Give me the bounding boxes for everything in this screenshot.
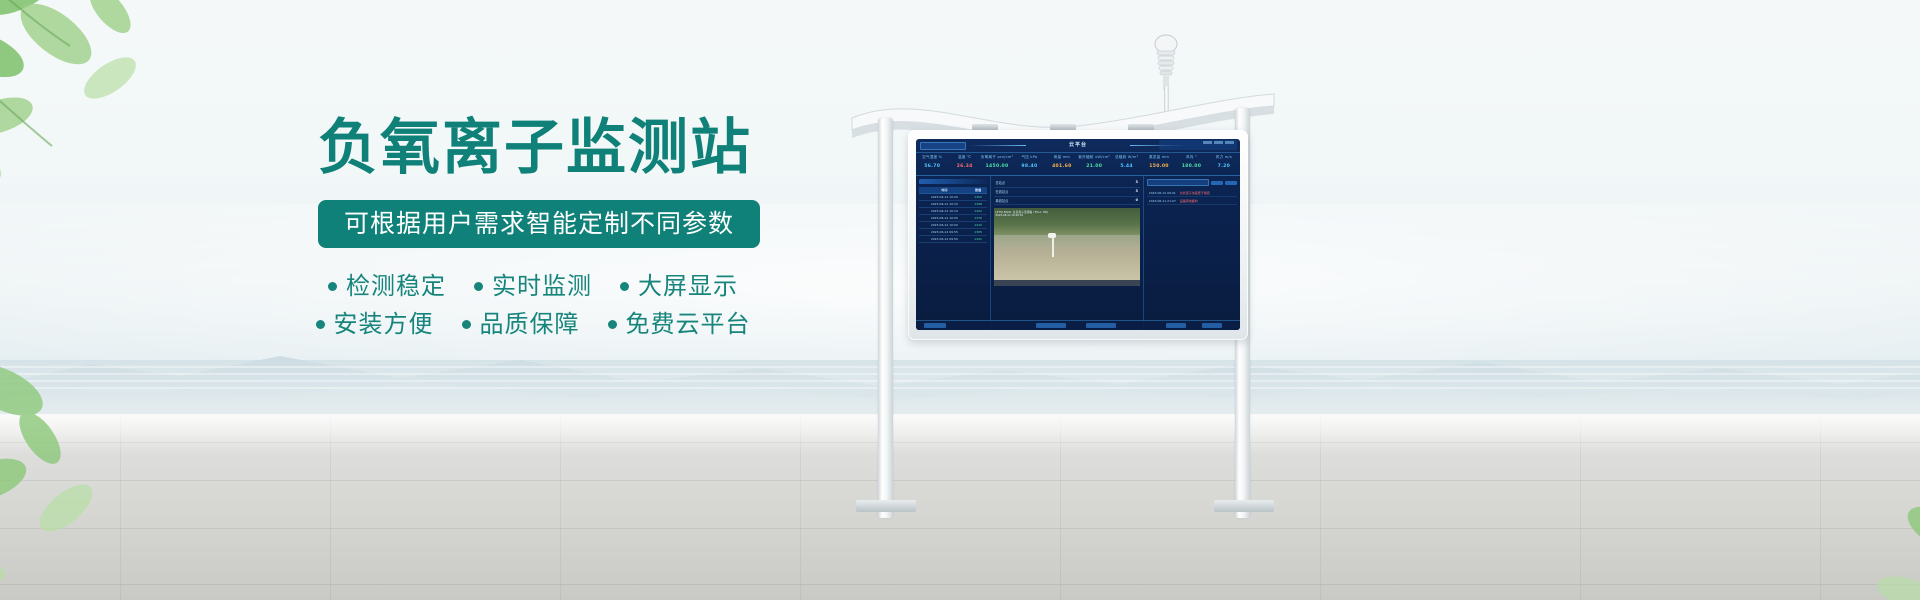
feature-label: 品质保障	[480, 312, 580, 336]
table-row: 2023-06-12 09:551365	[919, 229, 987, 236]
metric-card: 雨量 mm 401.60	[1046, 153, 1078, 175]
footer-chip[interactable]	[1202, 323, 1222, 328]
alarm-time: 2023-06-12 09:41	[1149, 191, 1176, 195]
table-row: 2023-06-12 09:501441	[919, 236, 987, 243]
realtime-data-table: 时间 数值 2023-06-12 10:201450 2023-06-12 10…	[919, 187, 987, 243]
alarm-text: 设备离线超时	[1180, 199, 1198, 203]
feature-label: 安装方便	[334, 312, 434, 336]
feature-label: 大屏显示	[638, 274, 738, 298]
footer-chip[interactable]	[1036, 323, 1066, 328]
metric-value: 7.20	[1208, 164, 1240, 169]
cell-value: 1422	[970, 208, 987, 215]
kiosk-post-left	[878, 118, 893, 518]
bullet-dot-icon	[462, 320, 471, 329]
metric-value: 26.34	[948, 164, 980, 169]
stat-row: 离线站点 0	[994, 197, 1140, 206]
video-panel: 总站点 3 在线站点 3 离线站点 0	[991, 176, 1143, 330]
header-chip[interactable]	[1214, 141, 1223, 144]
stat-value: 0	[1136, 198, 1138, 203]
metric-value: 21.00	[1078, 164, 1110, 169]
table-row: 2023-06-12 10:001410	[919, 222, 987, 229]
feature-item: 免费云平台	[608, 312, 751, 336]
metric-label: 空气湿度 %	[916, 155, 948, 160]
feature-row: 检测稳定 实时监测 大屏显示	[318, 274, 748, 298]
alarm-filter-select[interactable]	[1147, 179, 1209, 186]
metric-label: 风力 m/s	[1208, 155, 1240, 160]
metric-value: 98.40	[1013, 164, 1045, 169]
feature-label: 检测稳定	[346, 274, 446, 298]
live-video-feed[interactable]: JZTM-NQ01 负氧离子监测站 (FULL HD) 2023-06-12 1…	[994, 208, 1140, 286]
alarm-panel: 2023-06-12 09:41 负氧离子浓度低于阈值 2023-06-11 2…	[1143, 176, 1240, 330]
display-screen: 云平台 空气湿度 % 56.70	[916, 139, 1240, 330]
page-title: 负氧离子监测站	[318, 118, 748, 178]
bullet-dot-icon	[328, 282, 337, 291]
feature-row: 安装方便 品质保障 免费云平台	[318, 312, 748, 336]
metric-value: 5.44	[1110, 164, 1142, 169]
query-button[interactable]	[1211, 181, 1223, 185]
metric-value: 150.00	[1143, 164, 1175, 169]
dashboard: 云平台 空气湿度 % 56.70	[916, 139, 1240, 330]
table-row: 2023-06-12 10:051376	[919, 215, 987, 222]
bullet-dot-icon	[474, 282, 483, 291]
table-row: 2023-06-12 10:201450	[919, 194, 987, 201]
feature-item: 安装方便	[316, 312, 434, 336]
metric-label: 总辐射 W/m²	[1110, 155, 1142, 160]
header-chip[interactable]	[1225, 141, 1234, 144]
alarm-time: 2023-06-11 21:07	[1149, 199, 1176, 203]
footer-chip[interactable]	[924, 323, 946, 328]
dashboard-body: 时间 数值 2023-06-12 10:201450 2023-06-12 10…	[916, 176, 1240, 330]
hero-banner: 负氧离子监测站 可根据用户需求智能定制不同参数 检测稳定 实时监测 大屏显示	[0, 0, 1920, 600]
metric-card: 风力 m/s 7.20	[1208, 153, 1240, 175]
metric-card: 紫外辐射 uW/cm² 21.00	[1078, 153, 1110, 175]
metric-card: 温度 ℃ 26.34	[948, 153, 980, 175]
cell-time: 2023-06-12 10:00	[919, 222, 970, 229]
cell-value: 1450	[970, 194, 987, 201]
metric-label: 雨量 mm	[1046, 155, 1078, 160]
metric-label: 蒸发量 mm	[1143, 155, 1175, 160]
stat-label: 总站点	[996, 180, 1006, 185]
metric-value: 56.70	[916, 164, 948, 169]
cell-value: 1441	[970, 236, 987, 243]
alarm-text: 负氧离子浓度低于阈值	[1180, 191, 1210, 195]
metric-strip: 空气湿度 % 56.70 温度 ℃ 26.34 负氧离子 pcs/cm³ 145…	[916, 153, 1240, 176]
metric-card: 风向 ° 180.00	[1175, 153, 1207, 175]
footer-chip[interactable]	[1166, 323, 1186, 328]
feature-label: 实时监测	[492, 274, 592, 298]
bullet-dot-icon	[620, 282, 629, 291]
metric-label: 温度 ℃	[948, 155, 980, 160]
metric-value: 1450.00	[981, 164, 1013, 169]
video-sensor-pole	[1052, 236, 1054, 256]
subtitle-badge: 可根据用户需求智能定制不同参数	[318, 200, 760, 248]
cell-time: 2023-06-12 09:55	[919, 229, 970, 236]
metric-label: 紫外辐射 uW/cm²	[1078, 155, 1110, 160]
export-button[interactable]	[1225, 181, 1237, 185]
metric-value: 180.00	[1175, 164, 1207, 169]
bullet-dot-icon	[316, 320, 325, 329]
panel-header-bar	[919, 179, 987, 184]
metric-label: 负氧离子 pcs/cm³	[981, 155, 1013, 160]
cell-time: 2023-06-12 10:20	[919, 194, 970, 201]
display-screen-frame: 云平台 空气湿度 % 56.70	[908, 130, 1248, 340]
cell-time: 2023-06-12 10:10	[919, 208, 970, 215]
feature-item: 实时监测	[474, 274, 592, 298]
realtime-data-panel: 时间 数值 2023-06-12 10:201450 2023-06-12 10…	[916, 176, 991, 330]
alarm-row: 2023-06-11 21:07 设备离线超时	[1147, 197, 1237, 205]
metric-card: 总辐射 W/m² 5.44	[1110, 153, 1142, 175]
alarm-row: 2023-06-12 09:41 负氧离子浓度低于阈值	[1147, 189, 1237, 197]
feature-label: 免费云平台	[626, 312, 751, 336]
footer-chip[interactable]	[1086, 323, 1116, 328]
hero-copy: 负氧离子监测站 可根据用户需求智能定制不同参数 检测稳定 实时监测 大屏显示	[318, 118, 748, 350]
bullet-dot-icon	[608, 320, 617, 329]
cell-value: 1398	[970, 201, 987, 208]
metric-card: 空气湿度 % 56.70	[916, 153, 948, 175]
stat-label: 在线站点	[996, 189, 1009, 194]
cell-value: 1410	[970, 222, 987, 229]
metric-card: 蒸发量 mm 150.00	[1143, 153, 1175, 175]
feature-list: 检测稳定 实时监测 大屏显示 安装方便 品质保障	[318, 274, 748, 336]
feature-item: 检测稳定	[328, 274, 446, 298]
header-chip[interactable]	[1203, 141, 1212, 144]
video-toolbar[interactable]	[994, 280, 1140, 286]
metric-value: 401.60	[1046, 164, 1078, 169]
stat-row: 在线站点 3	[994, 188, 1140, 197]
kiosk-base-left	[856, 500, 916, 512]
stat-row: 总站点 3	[994, 179, 1140, 188]
feature-item: 品质保障	[462, 312, 580, 336]
monitoring-station-kiosk: 云平台 空气湿度 % 56.70	[840, 30, 1310, 560]
stat-value: 3	[1136, 180, 1138, 185]
table-row: 2023-06-12 10:101422	[919, 208, 987, 215]
cell-time: 2023-06-12 09:50	[919, 236, 970, 243]
cell-value: 1376	[970, 215, 987, 222]
stat-value: 3	[1136, 189, 1138, 194]
video-overlay-line2: 2023-06-12 10:20:34	[996, 214, 1024, 217]
cell-time: 2023-06-12 10:15	[919, 201, 970, 208]
cell-value: 1365	[970, 229, 987, 236]
stat-label: 离线站点	[996, 198, 1009, 203]
dashboard-footer	[916, 320, 1240, 330]
table-row: 2023-06-12 10:151398	[919, 201, 987, 208]
metric-label: 气压 kPa	[1013, 155, 1045, 160]
header-action-chips[interactable]	[1203, 141, 1234, 144]
metric-card: 气压 kPa 98.40	[1013, 153, 1045, 175]
feature-item: 大屏显示	[620, 274, 738, 298]
kiosk-base-right	[1214, 500, 1274, 512]
metric-card: 负氧离子 pcs/cm³ 1450.00	[981, 153, 1013, 175]
metric-label: 风向 °	[1175, 155, 1207, 160]
cell-time: 2023-06-12 10:05	[919, 215, 970, 222]
dashboard-header: 云平台	[916, 139, 1240, 153]
